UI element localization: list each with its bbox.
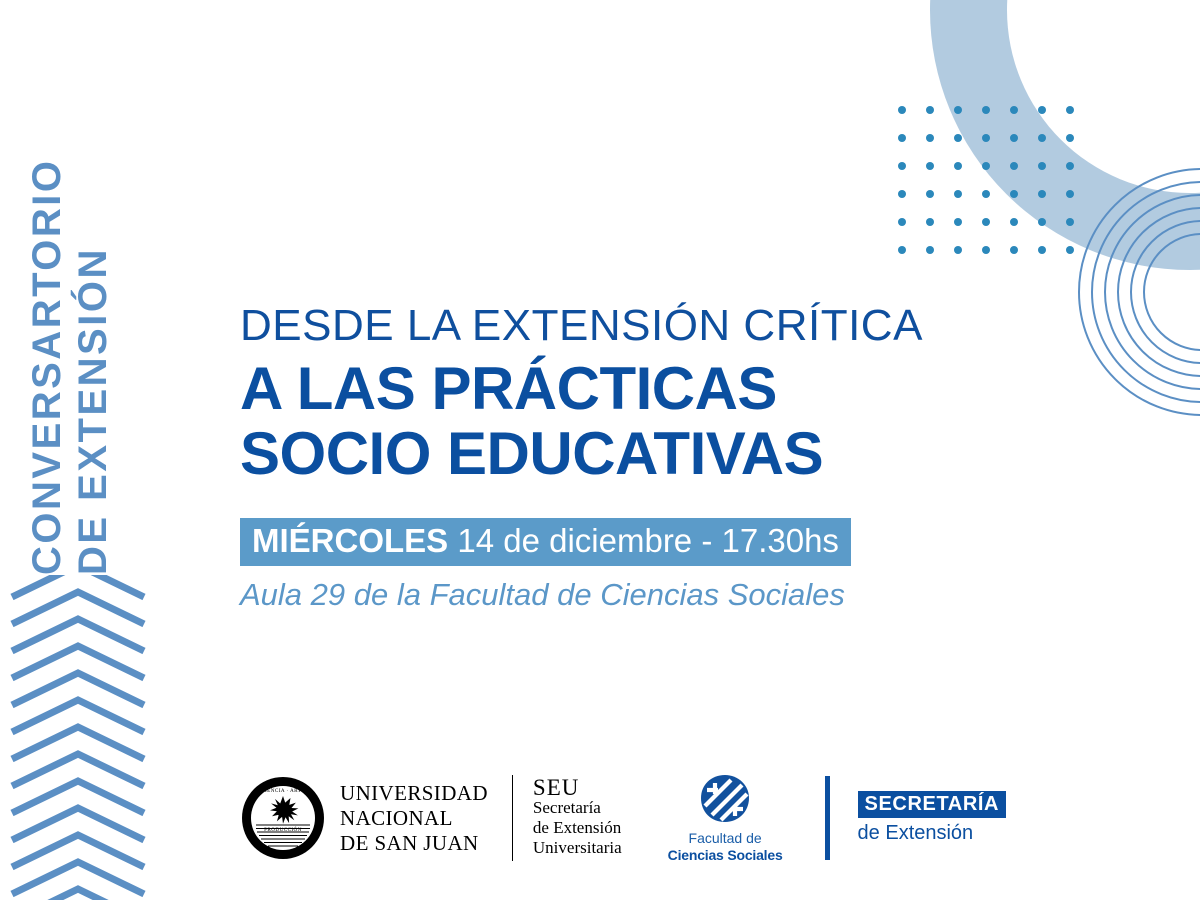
logo-bar: CIENCIA · ARTE PRODUCCIÓN UNIVERSIDAD NA… bbox=[240, 758, 980, 878]
secretaria-logo: SECRETARÍA de Extensión bbox=[858, 791, 1007, 845]
event-date-time: 14 de diciembre - 17.30hs bbox=[448, 522, 839, 559]
unsj-logo: CIENCIA · ARTE PRODUCCIÓN UNIVERSIDAD NA… bbox=[240, 775, 488, 861]
left-rail: CONVERSARTORIO DE EXTENSIÓN bbox=[0, 0, 170, 900]
svg-text:CIENCIA · ARTE: CIENCIA · ARTE bbox=[261, 788, 305, 794]
facultad-logo: Facultad de Ciencias Sociales bbox=[668, 773, 783, 864]
seu-line-1: Secretaría bbox=[533, 798, 622, 818]
date-banner: MIÉRCOLES 14 de diciembre - 17.30hs bbox=[240, 518, 851, 566]
unsj-wordmark: UNIVERSIDAD NACIONAL DE SAN JUAN bbox=[340, 781, 488, 856]
dot-grid-shape bbox=[897, 105, 1077, 265]
logo-divider-1 bbox=[512, 775, 513, 861]
eyebrow-text: DESDE LA EXTENSIÓN CRÍTICA bbox=[240, 300, 1000, 352]
chevron-pattern bbox=[0, 575, 170, 900]
headline-block: DESDE LA EXTENSIÓN CRÍTICA A LAS PRÁCTIC… bbox=[240, 300, 1000, 614]
unsj-line-2: NACIONAL bbox=[340, 806, 488, 831]
headline-line-1: A LAS PRÁCTICAS bbox=[240, 356, 1000, 421]
seu-line-3: Universitaria bbox=[533, 838, 622, 858]
logo-divider-2 bbox=[825, 776, 830, 860]
facultad-line-1: Facultad de bbox=[689, 830, 762, 847]
secretaria-badge: SECRETARÍA bbox=[858, 791, 1007, 818]
event-day: MIÉRCOLES bbox=[252, 522, 448, 559]
poster-canvas: CONVERSARTORIO DE EXTENSIÓN DESDE bbox=[0, 0, 1200, 900]
unsj-seal-icon: CIENCIA · ARTE PRODUCCIÓN bbox=[240, 775, 326, 861]
vertical-title-line-2: DE EXTENSIÓN bbox=[71, 247, 115, 575]
ciencias-sociales-mark-icon bbox=[698, 773, 752, 825]
concentric-rings-shape bbox=[1060, 140, 1200, 440]
headline-line-2: SOCIO EDUCATIVAS bbox=[240, 421, 1000, 486]
seu-acronym: SEU bbox=[533, 778, 622, 798]
facultad-line-2: Ciencias Sociales bbox=[668, 847, 783, 864]
venue-text: Aula 29 de la Facultad de Ciencias Socia… bbox=[240, 576, 1000, 614]
secretaria-subtitle: de Extensión bbox=[858, 821, 974, 845]
main-headline: A LAS PRÁCTICAS SOCIO EDUCATIVAS bbox=[240, 356, 1000, 486]
seu-line-2: de Extensión bbox=[533, 818, 622, 838]
vertical-title: CONVERSARTORIO DE EXTENSIÓN bbox=[25, 15, 115, 575]
unsj-line-3: DE SAN JUAN bbox=[340, 831, 488, 856]
seu-logo: SEU Secretaría de Extensión Universitari… bbox=[533, 778, 622, 858]
vertical-title-line-1: CONVERSARTORIO bbox=[25, 158, 69, 575]
unsj-line-1: UNIVERSIDAD bbox=[340, 781, 488, 806]
